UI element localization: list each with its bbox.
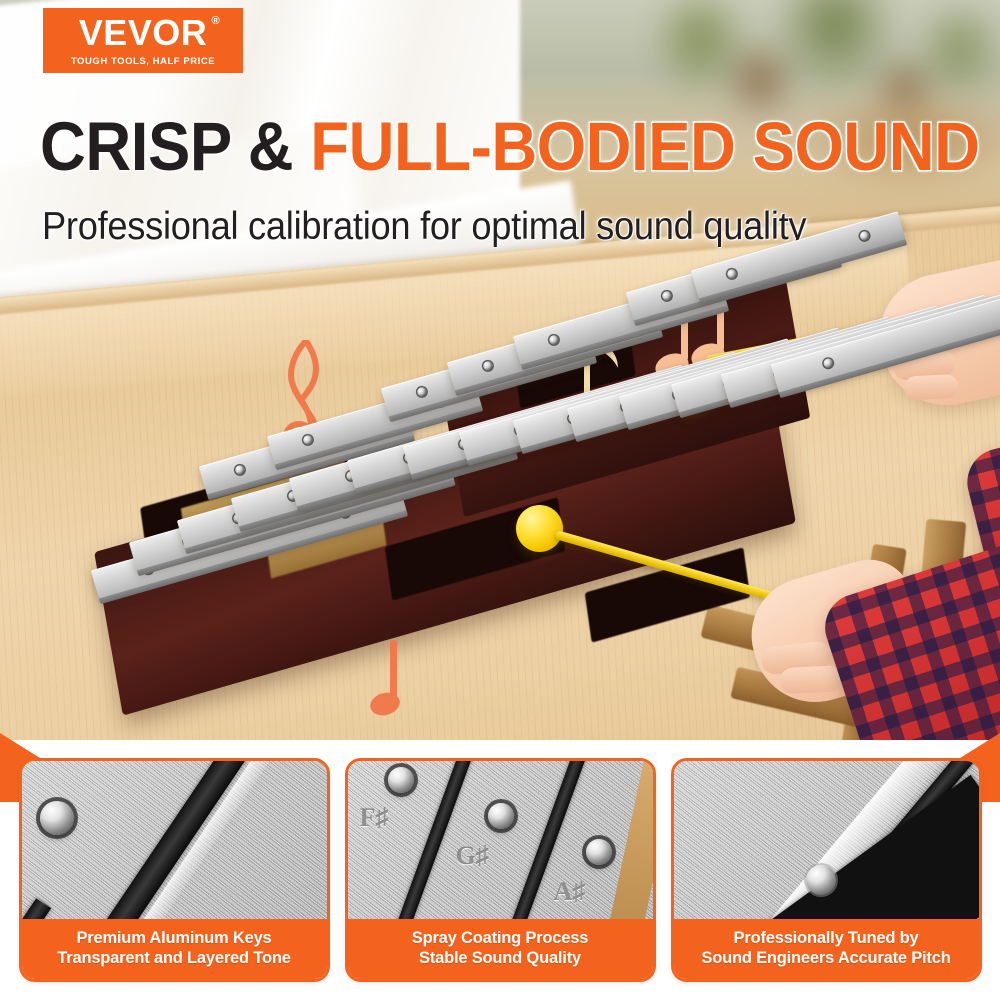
bar-screw xyxy=(235,464,246,475)
bar-screw xyxy=(303,434,314,445)
caption-line-1: Professionally Tuned by xyxy=(680,928,973,948)
feature-card[interactable]: Professionally Tuned by Sound Engineers … xyxy=(671,758,982,982)
logo-tagline: TOUGH TOOLS, HALF PRICE xyxy=(71,56,215,67)
engraved-note-1: F♯ xyxy=(360,803,389,833)
mallet-head-lower xyxy=(516,505,563,552)
quarter-note-icon xyxy=(370,640,408,722)
product-marketing-banner: VEVOR® TOUGH TOOLS, HALF PRICE CRISP & F… xyxy=(0,0,1000,1000)
registered-mark: ® xyxy=(212,16,221,27)
feature-caption: Professionally Tuned by Sound Engineers … xyxy=(674,919,979,979)
feature-card-list: Premium Aluminum Keys Transparent and La… xyxy=(0,740,1000,1000)
bar-screw xyxy=(483,360,494,371)
caption-line-2: Transparent and Layered Tone xyxy=(28,948,321,968)
caption-line-1: Premium Aluminum Keys xyxy=(28,928,321,948)
feature-image-closeup-polished-edge xyxy=(674,761,979,919)
page-subtitle: Professional calibration for optimal sou… xyxy=(42,205,806,249)
logo-text: VEVOR xyxy=(79,12,208,53)
bar-screw xyxy=(859,230,870,241)
engraved-note-3: A♯ xyxy=(554,877,586,907)
page-title: CRISP & FULL-BODIED SOUND xyxy=(40,112,980,181)
feature-caption: Spray Coating Process Stable Sound Quali… xyxy=(348,919,653,979)
feature-strip: Premium Aluminum Keys Transparent and La… xyxy=(0,740,1000,1000)
logo-wordmark: VEVOR® xyxy=(79,15,208,51)
headline-part-accent: FULL-BODIED SOUND xyxy=(310,108,979,185)
hero-photo: VEVOR® TOUGH TOOLS, HALF PRICE CRISP & F… xyxy=(0,0,1000,770)
caption-line-1: Spray Coating Process xyxy=(354,928,647,948)
feature-image-closeup-bar-screw xyxy=(22,761,327,919)
caption-line-2: Stable Sound Quality xyxy=(354,948,647,968)
bar-screw xyxy=(727,268,738,279)
bar-screw xyxy=(417,386,428,397)
feature-card[interactable]: F♯ G♯ A♯ Spray Coating Process Stable So… xyxy=(345,758,656,982)
bar-screw xyxy=(549,334,560,345)
feature-image-closeup-engraved-notes: F♯ G♯ A♯ xyxy=(348,761,653,919)
headline-part-dark: CRISP & xyxy=(40,108,310,185)
feature-card[interactable]: Premium Aluminum Keys Transparent and La… xyxy=(19,758,330,982)
vevor-logo: VEVOR® TOUGH TOOLS, HALF PRICE xyxy=(43,8,243,73)
engraved-note-2: G♯ xyxy=(456,841,489,871)
feature-caption: Premium Aluminum Keys Transparent and La… xyxy=(22,919,327,979)
bar-screw xyxy=(822,358,833,369)
bar-screw xyxy=(662,290,673,301)
caption-line-2: Sound Engineers Accurate Pitch xyxy=(680,948,973,968)
